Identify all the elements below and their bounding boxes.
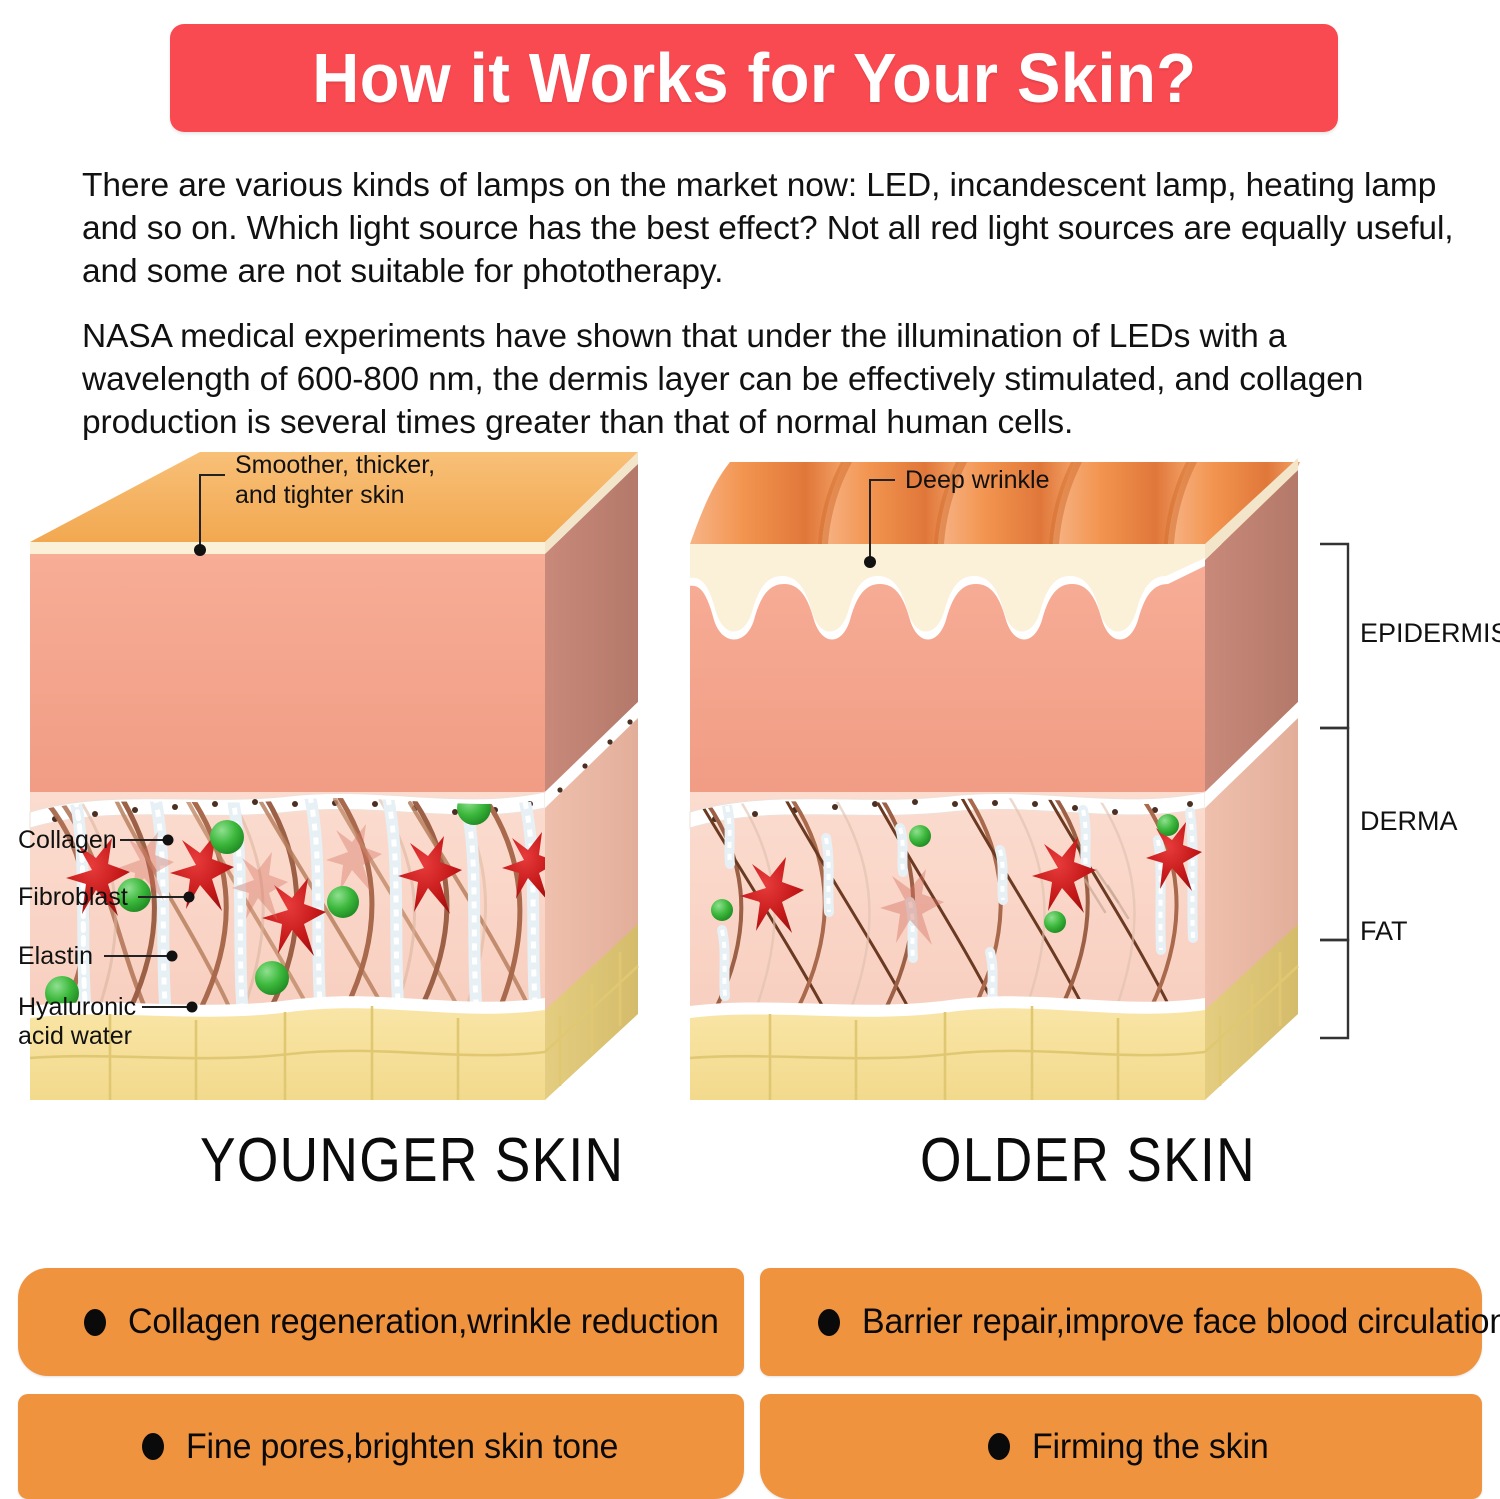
derma-label: DERMA	[1360, 806, 1458, 836]
younger-callout-label-line1: Smoother, thicker,	[235, 451, 435, 479]
older-callout-label: Deep wrinkle	[905, 466, 1050, 494]
benefit-label: Firming the skin	[1032, 1427, 1269, 1467]
bullet-icon	[142, 1433, 164, 1460]
benefit-label: Collagen regeneration,wrinkle reduction	[128, 1302, 719, 1342]
bullet-icon	[988, 1433, 1010, 1460]
page-title: How it Works for Your Skin?	[312, 38, 1196, 118]
younger-callout-label-line2: and tighter skin	[235, 481, 405, 509]
layer-bracket-epidermis: EPIDERMIS	[1320, 544, 1500, 728]
layer-bracket-fat: FAT	[1320, 916, 1408, 1038]
older-skin-caption: OLDER SKIN	[920, 1125, 1256, 1196]
epidermis-label: EPIDERMIS	[1360, 618, 1500, 648]
hyaluronic-label-line2: acid water	[18, 1022, 132, 1050]
benefit-label: Barrier repair,improve face blood circul…	[862, 1302, 1500, 1342]
bullet-icon	[818, 1309, 840, 1336]
skin-cross-section-diagram: Smoother, thicker, and tighter skin Deep…	[0, 440, 1500, 1120]
younger-epidermis-front-face	[30, 554, 545, 792]
younger-skin-caption: YOUNGER SKIN	[200, 1125, 624, 1196]
benefit-label: Fine pores,brighten skin tone	[186, 1427, 618, 1467]
younger-epidermis-top-edge	[30, 542, 545, 554]
older-callout-endpoint-dot	[864, 556, 876, 568]
intro-paragraph-1: There are various kinds of lamps on the …	[82, 164, 1464, 293]
fibroblast-label: Fibroblast	[18, 883, 128, 911]
bullet-icon	[84, 1309, 106, 1336]
layer-bracket-derma: DERMA	[1320, 728, 1458, 940]
younger-callout-endpoint-dot	[194, 544, 206, 556]
benefit-box-barrier-repair: Barrier repair,improve face blood circul…	[760, 1268, 1482, 1376]
benefit-box-fine-pores: Fine pores,brighten skin tone	[18, 1394, 744, 1499]
fibroblast-endpoint-dot	[184, 892, 195, 903]
hyaluronic-label-line1: Hyaluronic	[18, 993, 136, 1021]
benefit-box-collagen-regeneration: Collagen regeneration,wrinkle reduction	[18, 1268, 744, 1376]
older-skin-block	[690, 458, 1300, 1100]
intro-paragraph-2: NASA medical experiments have shown that…	[82, 315, 1464, 444]
hyaluronic-endpoint-dot	[187, 1002, 198, 1013]
fat-label: FAT	[1360, 916, 1408, 946]
elastin-label: Elastin	[18, 942, 93, 970]
elastin-endpoint-dot	[167, 951, 178, 962]
collagen-label: Collagen	[18, 826, 117, 854]
benefit-box-firming-the-skin: Firming the skin	[760, 1394, 1482, 1499]
page-title-banner: How it Works for Your Skin?	[170, 24, 1338, 132]
collagen-endpoint-dot	[163, 835, 174, 846]
